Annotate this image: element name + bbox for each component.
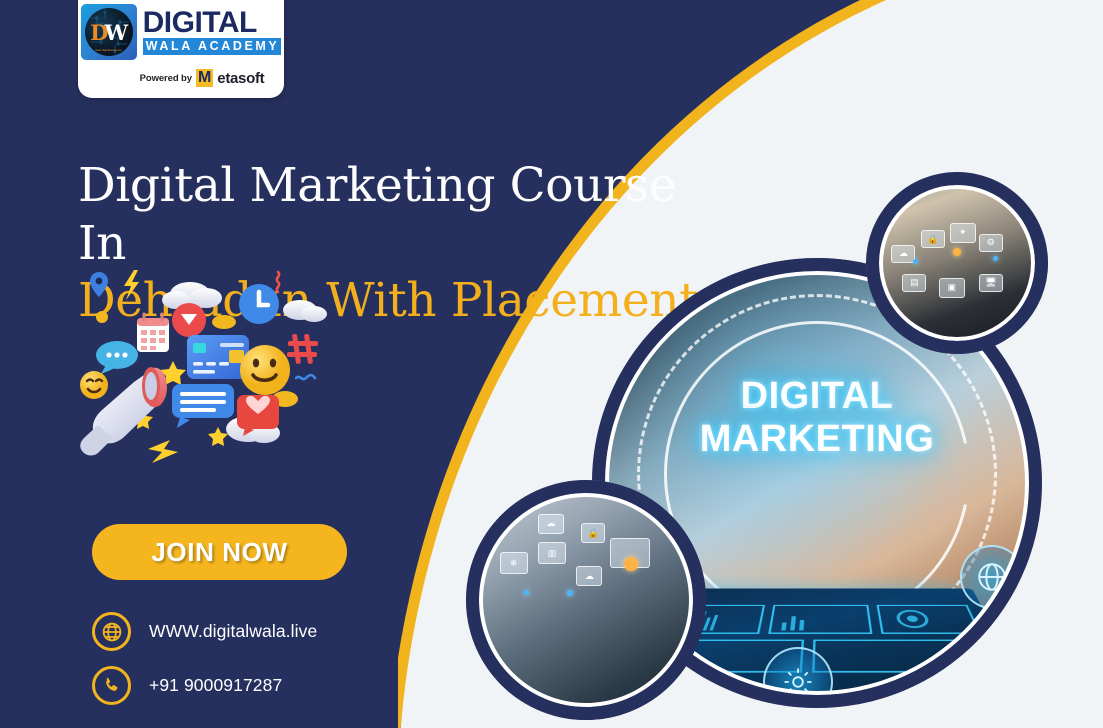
gear-badge-icon [763,647,833,708]
logo-emblem-icon: DW www.digitalwala.live [81,4,137,60]
speech-bubble-icon [96,341,138,374]
floating-ui-card: ☁ [576,566,602,586]
marketing-banner: DIGITAL MARKETING ☁ 🔒 ✦ ⚙ ▤ ▣ [0,0,1103,728]
star-icon [208,427,228,446]
main-medallion-title: DIGITAL MARKETING [592,375,1042,460]
metasoft-initial-icon: M [196,69,213,87]
squiggle-decoration-icon [296,375,315,379]
wink-emoji-icon [80,371,108,399]
clock-icon [239,284,279,324]
lightning-bolt-icon [124,270,139,300]
floating-ui-card: ▤ [902,274,926,292]
globe-badge-icon [960,545,1024,609]
cloud-icon [283,300,327,322]
bottom-left-medallion-photo [466,480,706,720]
floating-ui-card: ☁ [538,514,564,534]
floating-ui-card: ▣ [939,278,965,298]
headline-line-1: Digital Marketing Course In [78,157,718,272]
lightning-bolt-icon [148,440,178,463]
location-pin-icon [90,272,108,297]
metasoft-name: etasoft [217,70,264,87]
logo-initials: DW [90,22,127,43]
floating-ui-card: ⚙ [979,234,1003,252]
top-right-medallion: ☁ 🔒 ✦ ⚙ ▤ ▣ 🖥 [866,172,1048,354]
calendar-icon [137,314,169,352]
floating-ui-card: 🔒 [921,230,945,248]
logo-brand-secondary: WALA ACADEMY [143,38,282,55]
phone-text: +91 9000917287 [149,675,282,696]
credit-card-icon [187,335,249,379]
smiley-emoji-icon [240,345,290,395]
brand-logo-card[interactable]: DW www.digitalwala.live DIGITAL WALA ACA… [78,0,284,98]
main-title-line2: MARKETING [700,418,935,460]
logo-row: DW www.digitalwala.live DIGITAL WALA ACA… [81,4,282,60]
floating-ui-card: 🔒 [581,523,605,543]
coin-icon [212,315,236,329]
top-right-medallion-photo [866,172,1048,354]
marketing-illustration [72,262,352,477]
speech-bubble-icon [172,384,234,428]
globe-icon [92,612,131,651]
squiggle-decoration-icon [277,272,279,292]
logo-orb-url: www.digitalwala.live [85,49,133,52]
powered-by-row: Powered by Metasoft [140,69,265,87]
floating-ui-card: ✦ [950,223,976,243]
floating-ui-card: ▥ [538,542,566,564]
main-title-line1: DIGITAL [741,375,894,417]
floating-ui-card: ☁ [891,245,915,263]
contact-phone[interactable]: +91 9000917287 [92,666,282,705]
bottom-left-medallion: ❄ ▥ ☁ 🔒 ☁ [466,480,706,720]
floating-ui-card: 🖥 [979,274,1003,292]
logo-brand-primary: DIGITAL [143,9,282,37]
join-now-button[interactable]: JOIN NOW [92,524,347,580]
contact-website[interactable]: WWW.digitalwala.live [92,612,317,651]
floating-ui-card: ❄ [500,552,528,574]
logo-letter-w: W [104,22,127,43]
play-button-icon [172,303,206,337]
logo-orb-icon: DW www.digitalwala.live [85,8,133,56]
hashtag-icon [287,334,318,364]
website-text: WWW.digitalwala.live [149,621,317,642]
logo-wordmark: DIGITAL WALA ACADEMY [143,9,282,55]
coin-icon [96,311,108,323]
powered-by-label: Powered by [140,73,192,84]
phone-icon [92,666,131,705]
